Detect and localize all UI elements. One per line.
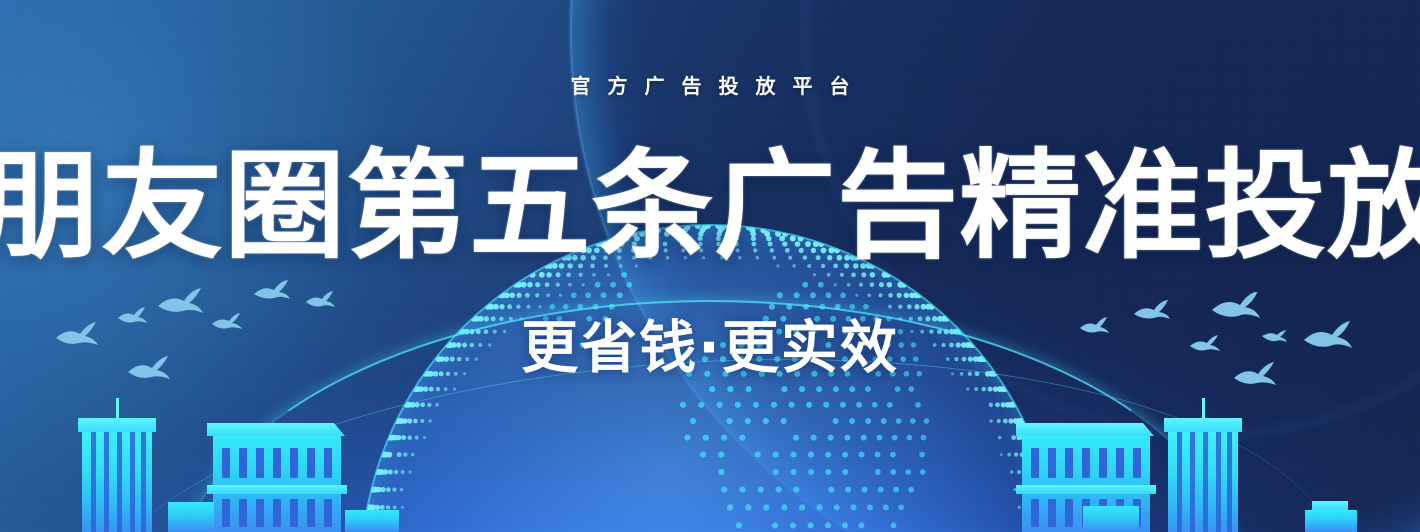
building-left-small bbox=[168, 502, 214, 532]
building-right-tower-cap bbox=[1164, 418, 1242, 432]
building-left-block-roof bbox=[207, 423, 345, 436]
building-right-far-cap bbox=[1312, 501, 1348, 510]
banner-subtitle: 更省钱·更实效 bbox=[0, 302, 1420, 384]
building-right-far bbox=[1305, 510, 1357, 532]
building-right-block-roof bbox=[1016, 423, 1154, 436]
building-right-mid bbox=[1083, 506, 1139, 532]
building-left-tower-cap bbox=[78, 418, 156, 432]
building-right-tower bbox=[1168, 432, 1238, 532]
banner-headline: 朋友圈第五条广告精准投放 bbox=[0, 143, 1420, 270]
building-left-low bbox=[345, 510, 399, 532]
building-left-tower bbox=[82, 432, 152, 532]
promo-banner: 官方广告投放平台 朋友圈第五条广告精准投放 更省钱·更实效 bbox=[0, 0, 1420, 532]
building-left-block bbox=[213, 436, 341, 532]
banner-eyebrow: 官方广告投放平台 bbox=[0, 70, 1420, 99]
building-left-tower-antenna bbox=[116, 398, 119, 418]
